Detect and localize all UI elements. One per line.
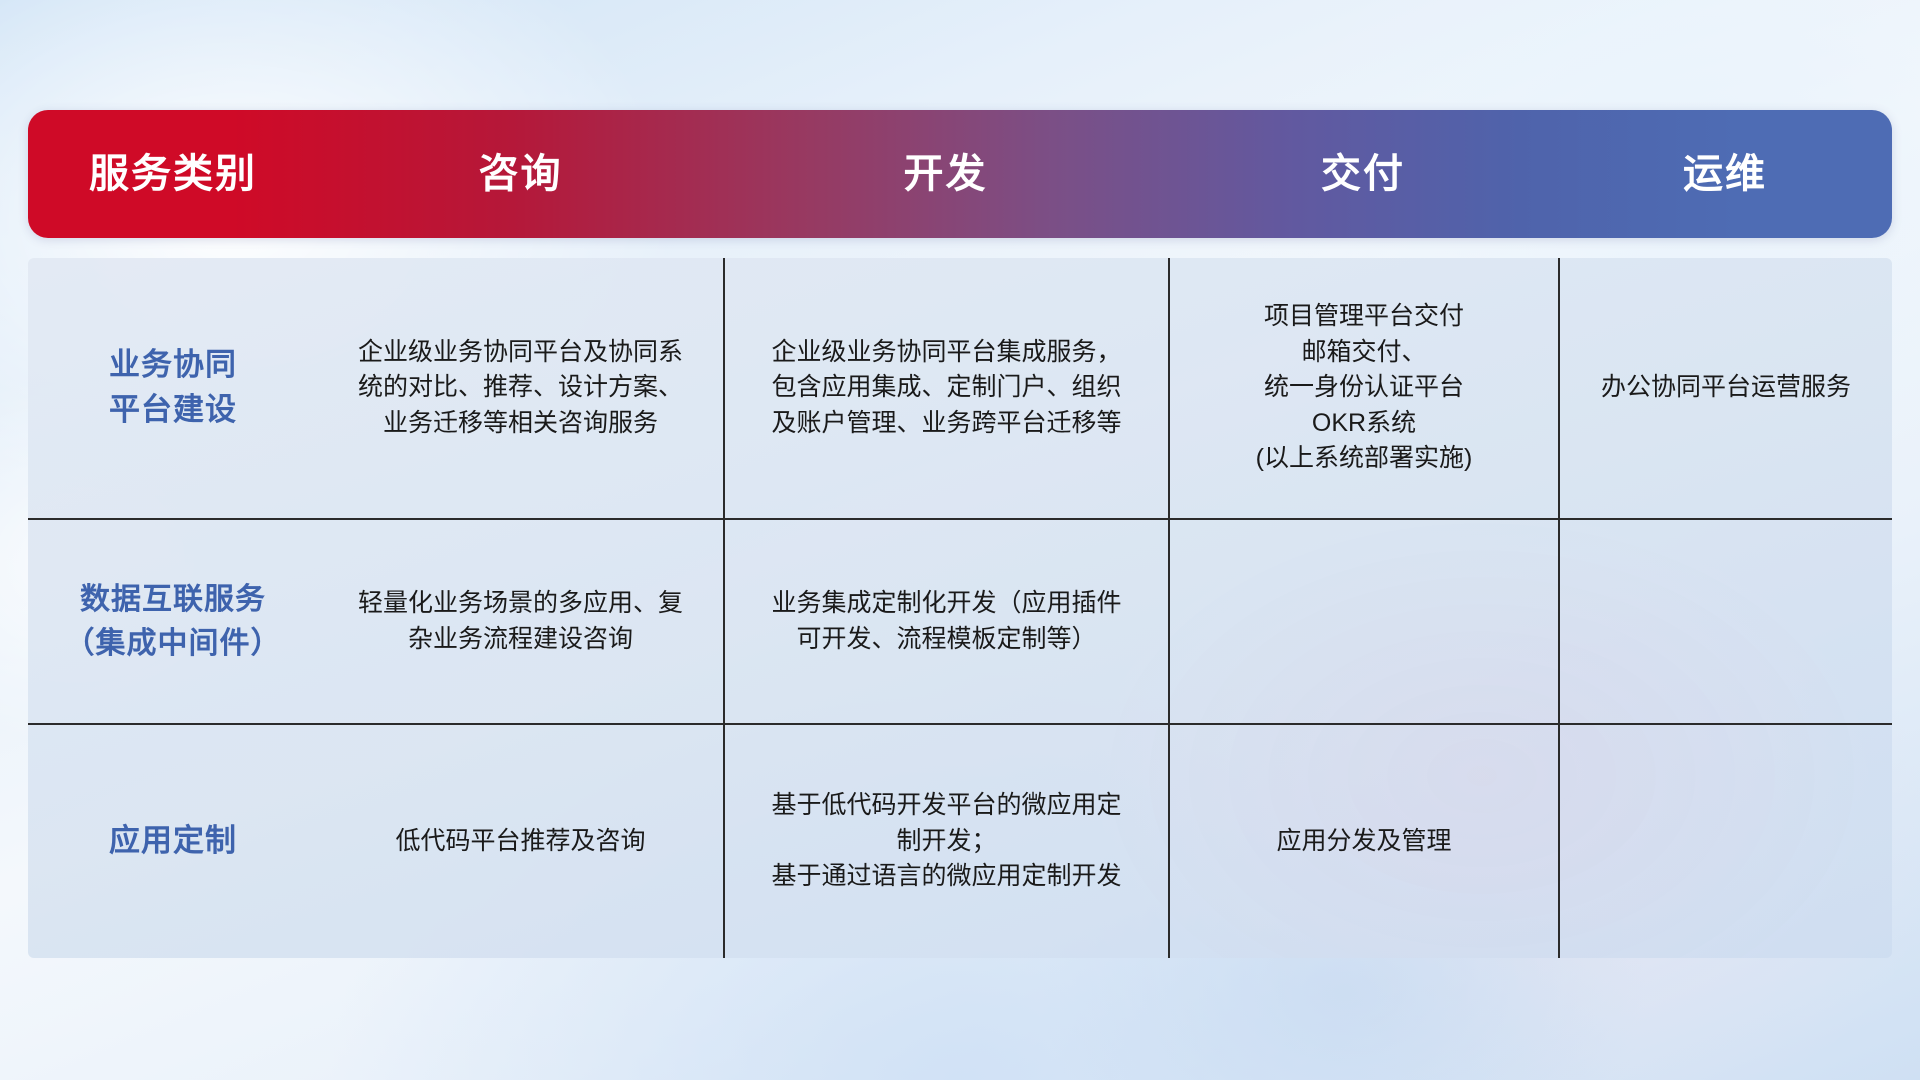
table-header-cell-delivery: 交付 bbox=[1168, 154, 1558, 194]
cell-operations bbox=[1558, 725, 1892, 958]
cell-operations bbox=[1558, 520, 1892, 723]
cell-delivery bbox=[1168, 520, 1558, 723]
row-category-label: 数据互联服务 （集成中间件） bbox=[28, 520, 318, 723]
cell-development: 企业级业务协同平台集成服务， 包含应用集成、定制门户、组织 及账户管理、业务跨平… bbox=[723, 258, 1168, 518]
cell-development: 业务集成定制化开发（应用插件 可开发、流程模板定制等） bbox=[723, 520, 1168, 723]
table-header-cell-category: 服务类别 bbox=[28, 154, 318, 194]
cell-delivery: 应用分发及管理 bbox=[1168, 725, 1558, 958]
cell-operations: 办公协同平台运营服务 bbox=[1558, 258, 1892, 518]
cell-development: 基于低代码开发平台的微应用定 制开发； 基于通过语言的微应用定制开发 bbox=[723, 725, 1168, 958]
cell-delivery: 项目管理平台交付 邮箱交付、 统一身份认证平台 OKR系统 (以上系统部署实施) bbox=[1168, 258, 1558, 518]
row-category-label: 业务协同 平台建设 bbox=[28, 258, 318, 518]
cell-consulting: 轻量化业务场景的多应用、复 杂业务流程建设咨询 bbox=[318, 520, 723, 723]
cell-consulting: 低代码平台推荐及咨询 bbox=[318, 725, 723, 958]
service-category-table: 服务类别 咨询 开发 交付 运维 业务协同 平台建设 企业级业务协同平台及协同系… bbox=[28, 110, 1892, 958]
table-header-cell-development: 开发 bbox=[723, 154, 1168, 194]
table-header-row: 服务类别 咨询 开发 交付 运维 bbox=[28, 110, 1892, 238]
table-header-cell-operations: 运维 bbox=[1558, 154, 1892, 194]
table-header-cell-consulting: 咨询 bbox=[318, 154, 723, 194]
cell-consulting: 企业级业务协同平台及协同系 统的对比、推荐、设计方案、 业务迁移等相关咨询服务 bbox=[318, 258, 723, 518]
row-category-label: 应用定制 bbox=[28, 725, 318, 958]
table-body: 业务协同 平台建设 企业级业务协同平台及协同系 统的对比、推荐、设计方案、 业务… bbox=[28, 258, 1892, 958]
table-row: 业务协同 平台建设 企业级业务协同平台及协同系 统的对比、推荐、设计方案、 业务… bbox=[28, 258, 1892, 518]
table-row: 数据互联服务 （集成中间件） 轻量化业务场景的多应用、复 杂业务流程建设咨询 业… bbox=[28, 518, 1892, 723]
table-row: 应用定制 低代码平台推荐及咨询 基于低代码开发平台的微应用定 制开发； 基于通过… bbox=[28, 723, 1892, 958]
